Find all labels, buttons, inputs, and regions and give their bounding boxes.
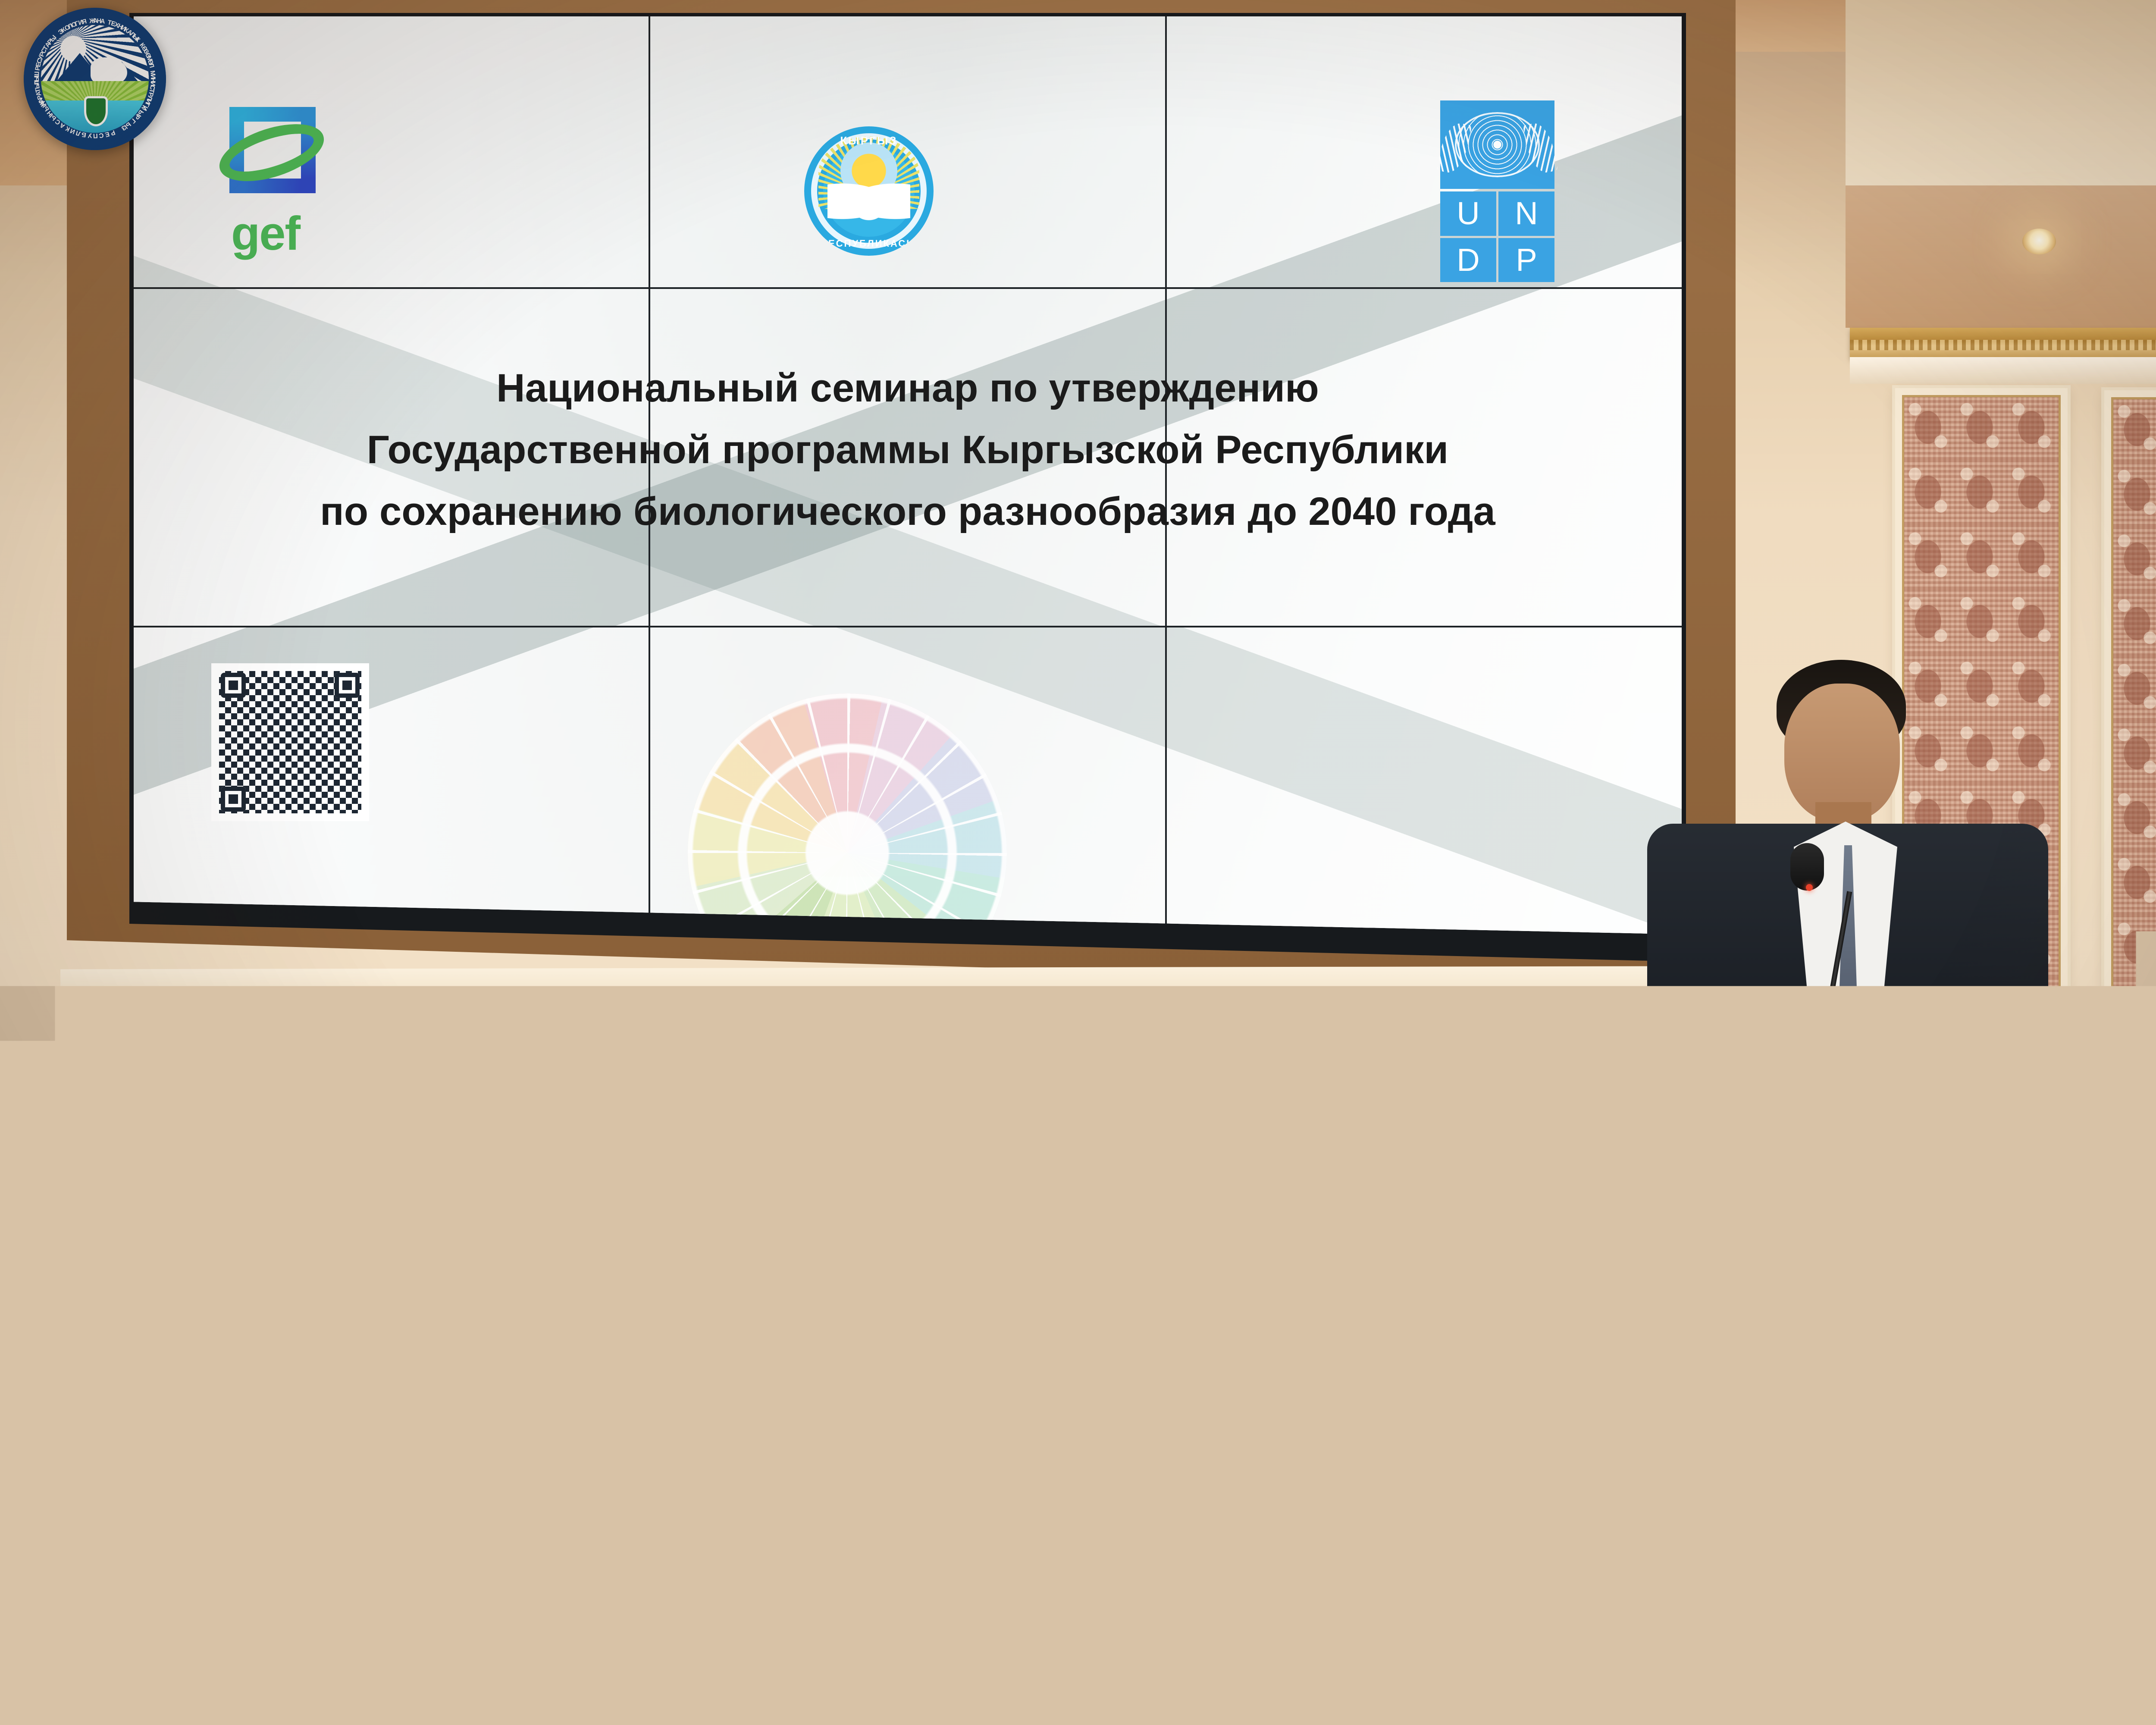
emblem-ring-text: ЖАРАТЫЛЫШ РЕСУРСТАРЫ, ЭКОЛОГИЯ ЖАНА ТЕХН… [24, 8, 166, 150]
undp-letter-u: U [1440, 191, 1496, 236]
un-emblem-block [1440, 100, 1554, 189]
kyrgyz-republic-emblem: КЫРГЫЗ РЕСПУБЛИКАСЫ [804, 126, 934, 256]
qr-code-matrix [219, 671, 361, 813]
plaque-hotel-name: ORION [1760, 1131, 1949, 1190]
plaque-star-rating: ★★★★★ [1796, 1104, 1912, 1126]
undp-letter-n: N [1498, 191, 1554, 236]
undp-letter-p: P [1498, 238, 1554, 282]
podium-top-edge [1671, 1052, 2035, 1070]
wainscot-panel [0, 1104, 99, 1380]
un-globe-laurel-icon [1455, 112, 1539, 178]
radiator-grille [561, 1087, 1026, 1384]
wall-panel [2104, 390, 2156, 1046]
gef-logo: gef [220, 103, 328, 255]
venue-plaque: ★★★★★ ORION HOTEL BISHKEK [1759, 1095, 1949, 1220]
slide-title-line-2: Государственной программы Кыргызской Рес… [134, 427, 1682, 473]
gold-cornice-molding [1850, 328, 2156, 358]
qr-finder-top-left [221, 673, 246, 698]
ceiling-right-band [1846, 185, 2156, 328]
plaque-hotel-subtitle: HOTEL BISHKEK [1769, 1196, 1940, 1212]
gef-wordmark: gef [231, 212, 328, 255]
gef-planet-icon [220, 103, 328, 210]
microphone-head [1790, 843, 1824, 891]
undp-logo: U N D P [1440, 100, 1554, 282]
slide-title: Национальный семинар по утверждению Госу… [134, 366, 1682, 551]
slide-title-line-1: Национальный семинар по утверждению [134, 366, 1682, 411]
sdg-colour-wheel [688, 693, 1007, 944]
wainscot-panel [1052, 1089, 1350, 1391]
slide-title-line-3: по сохранению биологического разнообрази… [134, 489, 1682, 534]
wainscot-panel [235, 1087, 533, 1389]
undp-letter-grid: U N D P [1440, 191, 1554, 282]
conference-room-photo: gef КЫРГЫЗ РЕСПУБЛИКАСЫ U N D P Национал… [0, 0, 2156, 1725]
qr-code[interactable] [211, 663, 369, 821]
emblem-text-bottom: РЕСПУБЛИКАСЫ [804, 238, 934, 249]
ministry-emblem-watermark: ЖАРАТЫЛЫШ РЕСУРСТАРЫ, ЭКОЛОГИЯ ЖАНА ТЕХН… [24, 8, 166, 150]
qr-finder-bottom-left [221, 787, 246, 812]
screen-ledge [60, 966, 1751, 1031]
emblem-text-top: КЫРГЫЗ [804, 134, 934, 147]
wainscot-panel [129, 1087, 203, 1384]
slide-content: gef КЫРГЫЗ РЕСПУБЛИКАСЫ U N D P Национал… [134, 16, 1682, 944]
microphone-led-indicator [1806, 884, 1813, 891]
backpack [1975, 1207, 2096, 1389]
floor-cable-coil [1432, 1458, 1572, 1525]
qr-finder-top-right [335, 673, 360, 698]
ceiling-right [1846, 0, 2156, 207]
radiator-grille [2147, 1104, 2156, 1371]
speaker-head [1784, 684, 1900, 822]
ceiling-spotlight [2022, 229, 2056, 254]
undp-letter-d: D [1440, 238, 1496, 282]
speaker-eyeglasses [1824, 1031, 1934, 1054]
emblem-falcon [827, 179, 910, 228]
white-cornice-molding [1850, 357, 2156, 384]
damask-wallpaper [2111, 397, 2156, 1039]
